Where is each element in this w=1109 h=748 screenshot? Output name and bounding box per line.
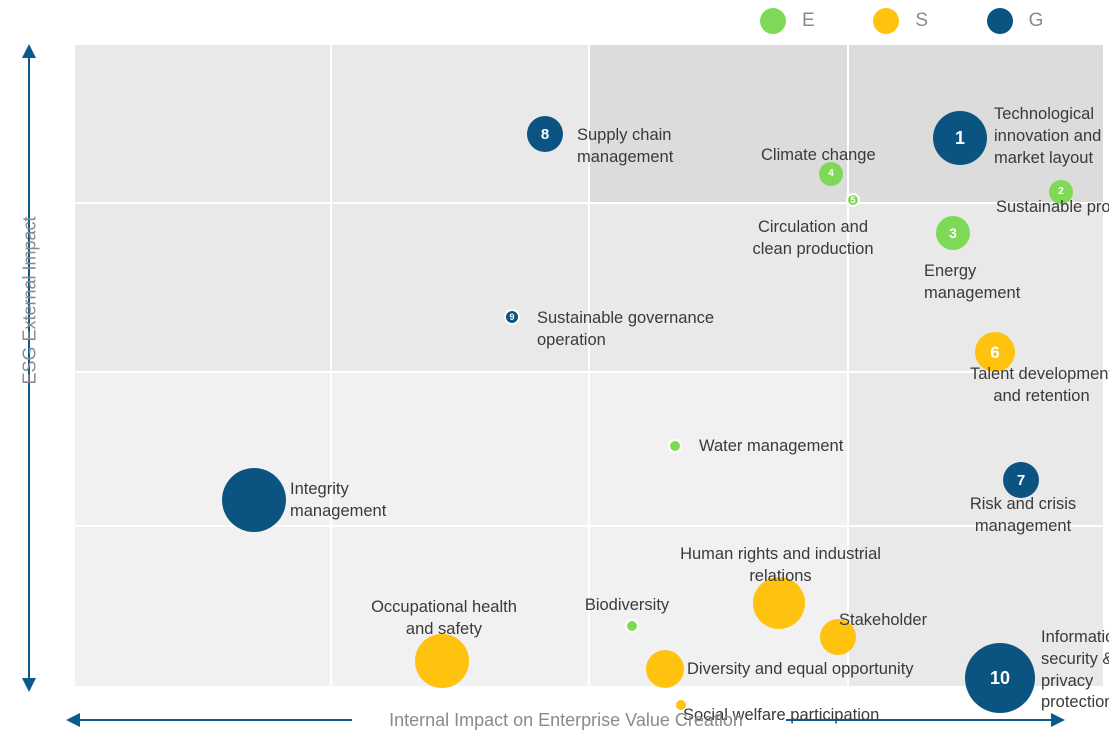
legend: ESG bbox=[760, 2, 1100, 40]
point-label-unranked-15: Biodiversity bbox=[575, 595, 679, 617]
legend-label-e: E bbox=[802, 10, 815, 32]
point-label-unranked-16: Diversity and equal opportunity bbox=[687, 659, 949, 681]
point-label-9: Sustainable governance operation bbox=[537, 308, 747, 352]
x-axis-line-right bbox=[786, 719, 1051, 721]
point-label-unranked-13: Stakeholder bbox=[839, 610, 955, 632]
bubble-unranked-16[interactable] bbox=[646, 650, 684, 688]
legend-item-e[interactable]: E bbox=[760, 8, 873, 34]
chart-plot-area: 12345678910 Technological innovation and… bbox=[75, 45, 1105, 688]
x-axis-label: Internal Impact on Enterprise Value Crea… bbox=[356, 710, 776, 731]
point-label-unranked-12: Human rights and industrial relations bbox=[666, 544, 895, 588]
x-axis-arrow-right-icon bbox=[1051, 713, 1065, 727]
point-label-3: Energy management bbox=[924, 261, 1064, 305]
bubble-3[interactable]: 3 bbox=[936, 216, 970, 250]
y-axis-arrow-up-icon bbox=[22, 44, 36, 58]
y-axis-arrow-down-icon bbox=[22, 678, 36, 692]
point-label-7: Risk and crisis management bbox=[961, 494, 1085, 538]
grid-cell-r1-c3 bbox=[590, 45, 847, 202]
x-axis-line-left bbox=[80, 719, 352, 721]
point-label-10: Information security & privacy protectio… bbox=[1041, 627, 1109, 714]
grid-cell-r2-c1 bbox=[75, 204, 330, 371]
x-axis-arrow-left-icon bbox=[66, 713, 80, 727]
legend-item-s[interactable]: S bbox=[873, 8, 986, 34]
point-label-5: Circulation and clean production bbox=[739, 217, 887, 261]
y-axis-label: ESG External Impact bbox=[20, 211, 41, 391]
legend-item-g[interactable]: G bbox=[987, 8, 1100, 34]
bubble-5[interactable]: 5 bbox=[846, 193, 860, 207]
bubble-10[interactable]: 10 bbox=[965, 643, 1035, 713]
bubble-1[interactable]: 1 bbox=[933, 111, 987, 165]
point-label-unranked-10: Integrity management bbox=[290, 479, 410, 523]
legend-label-s: S bbox=[915, 10, 928, 32]
bubble-unranked-10[interactable] bbox=[222, 468, 286, 532]
grid-cell-r4-c1 bbox=[75, 527, 330, 686]
bubble-unranked-14[interactable] bbox=[415, 634, 469, 688]
grid-cell-r1-c1 bbox=[75, 45, 330, 202]
bubble-9[interactable]: 9 bbox=[504, 309, 520, 325]
bubble-unranked-15[interactable] bbox=[625, 619, 639, 633]
point-label-unranked-11: Water management bbox=[699, 436, 879, 458]
legend-dot-social bbox=[873, 8, 899, 34]
bubble-8[interactable]: 8 bbox=[527, 116, 563, 152]
point-label-1: Technological innovation and market layo… bbox=[994, 104, 1109, 169]
legend-dot-governance bbox=[987, 8, 1013, 34]
legend-label-g: G bbox=[1029, 10, 1044, 32]
legend-dot-environment bbox=[760, 8, 786, 34]
point-label-8: Supply chain management bbox=[577, 125, 687, 169]
bubble-unranked-11[interactable] bbox=[668, 439, 682, 453]
bubble-7[interactable]: 7 bbox=[1003, 462, 1039, 498]
point-label-unranked-14: Occupational health and safety bbox=[358, 597, 530, 641]
point-label-2: Sustainable products bbox=[994, 197, 1109, 219]
point-label-4: Climate change bbox=[761, 145, 903, 167]
point-label-6: Talent development and retention bbox=[955, 364, 1109, 408]
